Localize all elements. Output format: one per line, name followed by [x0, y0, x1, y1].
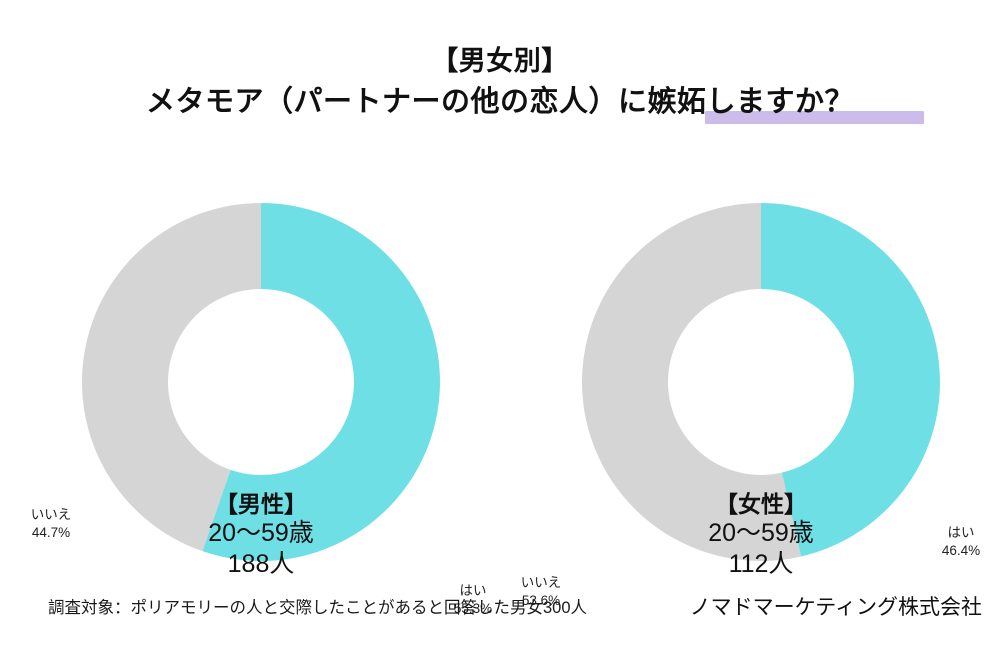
slice-label-male-no-value: 44.7% [22, 524, 80, 542]
donut-chart-male: 【男性】 20〜59歳 188人 いいえ 44.7% はい 55.3% [0, 190, 500, 580]
footer: 調査対象：ポリアモリーの人と交際したことがあると回答した男女300人 ノマドマー… [0, 594, 1000, 634]
title-question-text: メタモア（パートナーの他の恋人）に嫉妬しますか？ [146, 86, 854, 118]
slice-label-female-yes-value: 46.4% [932, 542, 990, 560]
slice-label-female-yes-name: はい [932, 524, 990, 542]
slice-label-female-no-name: いいえ [512, 574, 570, 592]
slice-label-male-no-name: いいえ [22, 506, 80, 524]
donut-svg-female [582, 190, 940, 580]
title-line-question: メタモア（パートナーの他の恋人）に嫉妬しますか？ [146, 82, 854, 122]
footer-survey-source: 調査対象：ポリアモリーの人と交際したことがあると回答した男女300人 [48, 594, 587, 618]
footer-brand-name: ノマドマーケティング株式会社 [690, 591, 982, 621]
donut-charts-container: 【男性】 20〜59歳 188人 いいえ 44.7% はい 55.3% 【女性】… [0, 190, 1000, 580]
donut-hole-male [168, 289, 354, 475]
page-title: 【男女別】 メタモア（パートナーの他の恋人）に嫉妬しますか？ [0, 44, 1000, 122]
donut-hole-female [668, 289, 854, 475]
slice-label-female-yes: はい 46.4% [932, 524, 990, 559]
slice-label-male-no: いいえ 44.7% [22, 506, 80, 541]
donut-chart-female: 【女性】 20〜59歳 112人 いいえ 53.6% はい 46.4% [500, 190, 1000, 580]
title-line-segment: 【男女別】 [0, 44, 1000, 78]
donut-svg-male [82, 190, 440, 580]
